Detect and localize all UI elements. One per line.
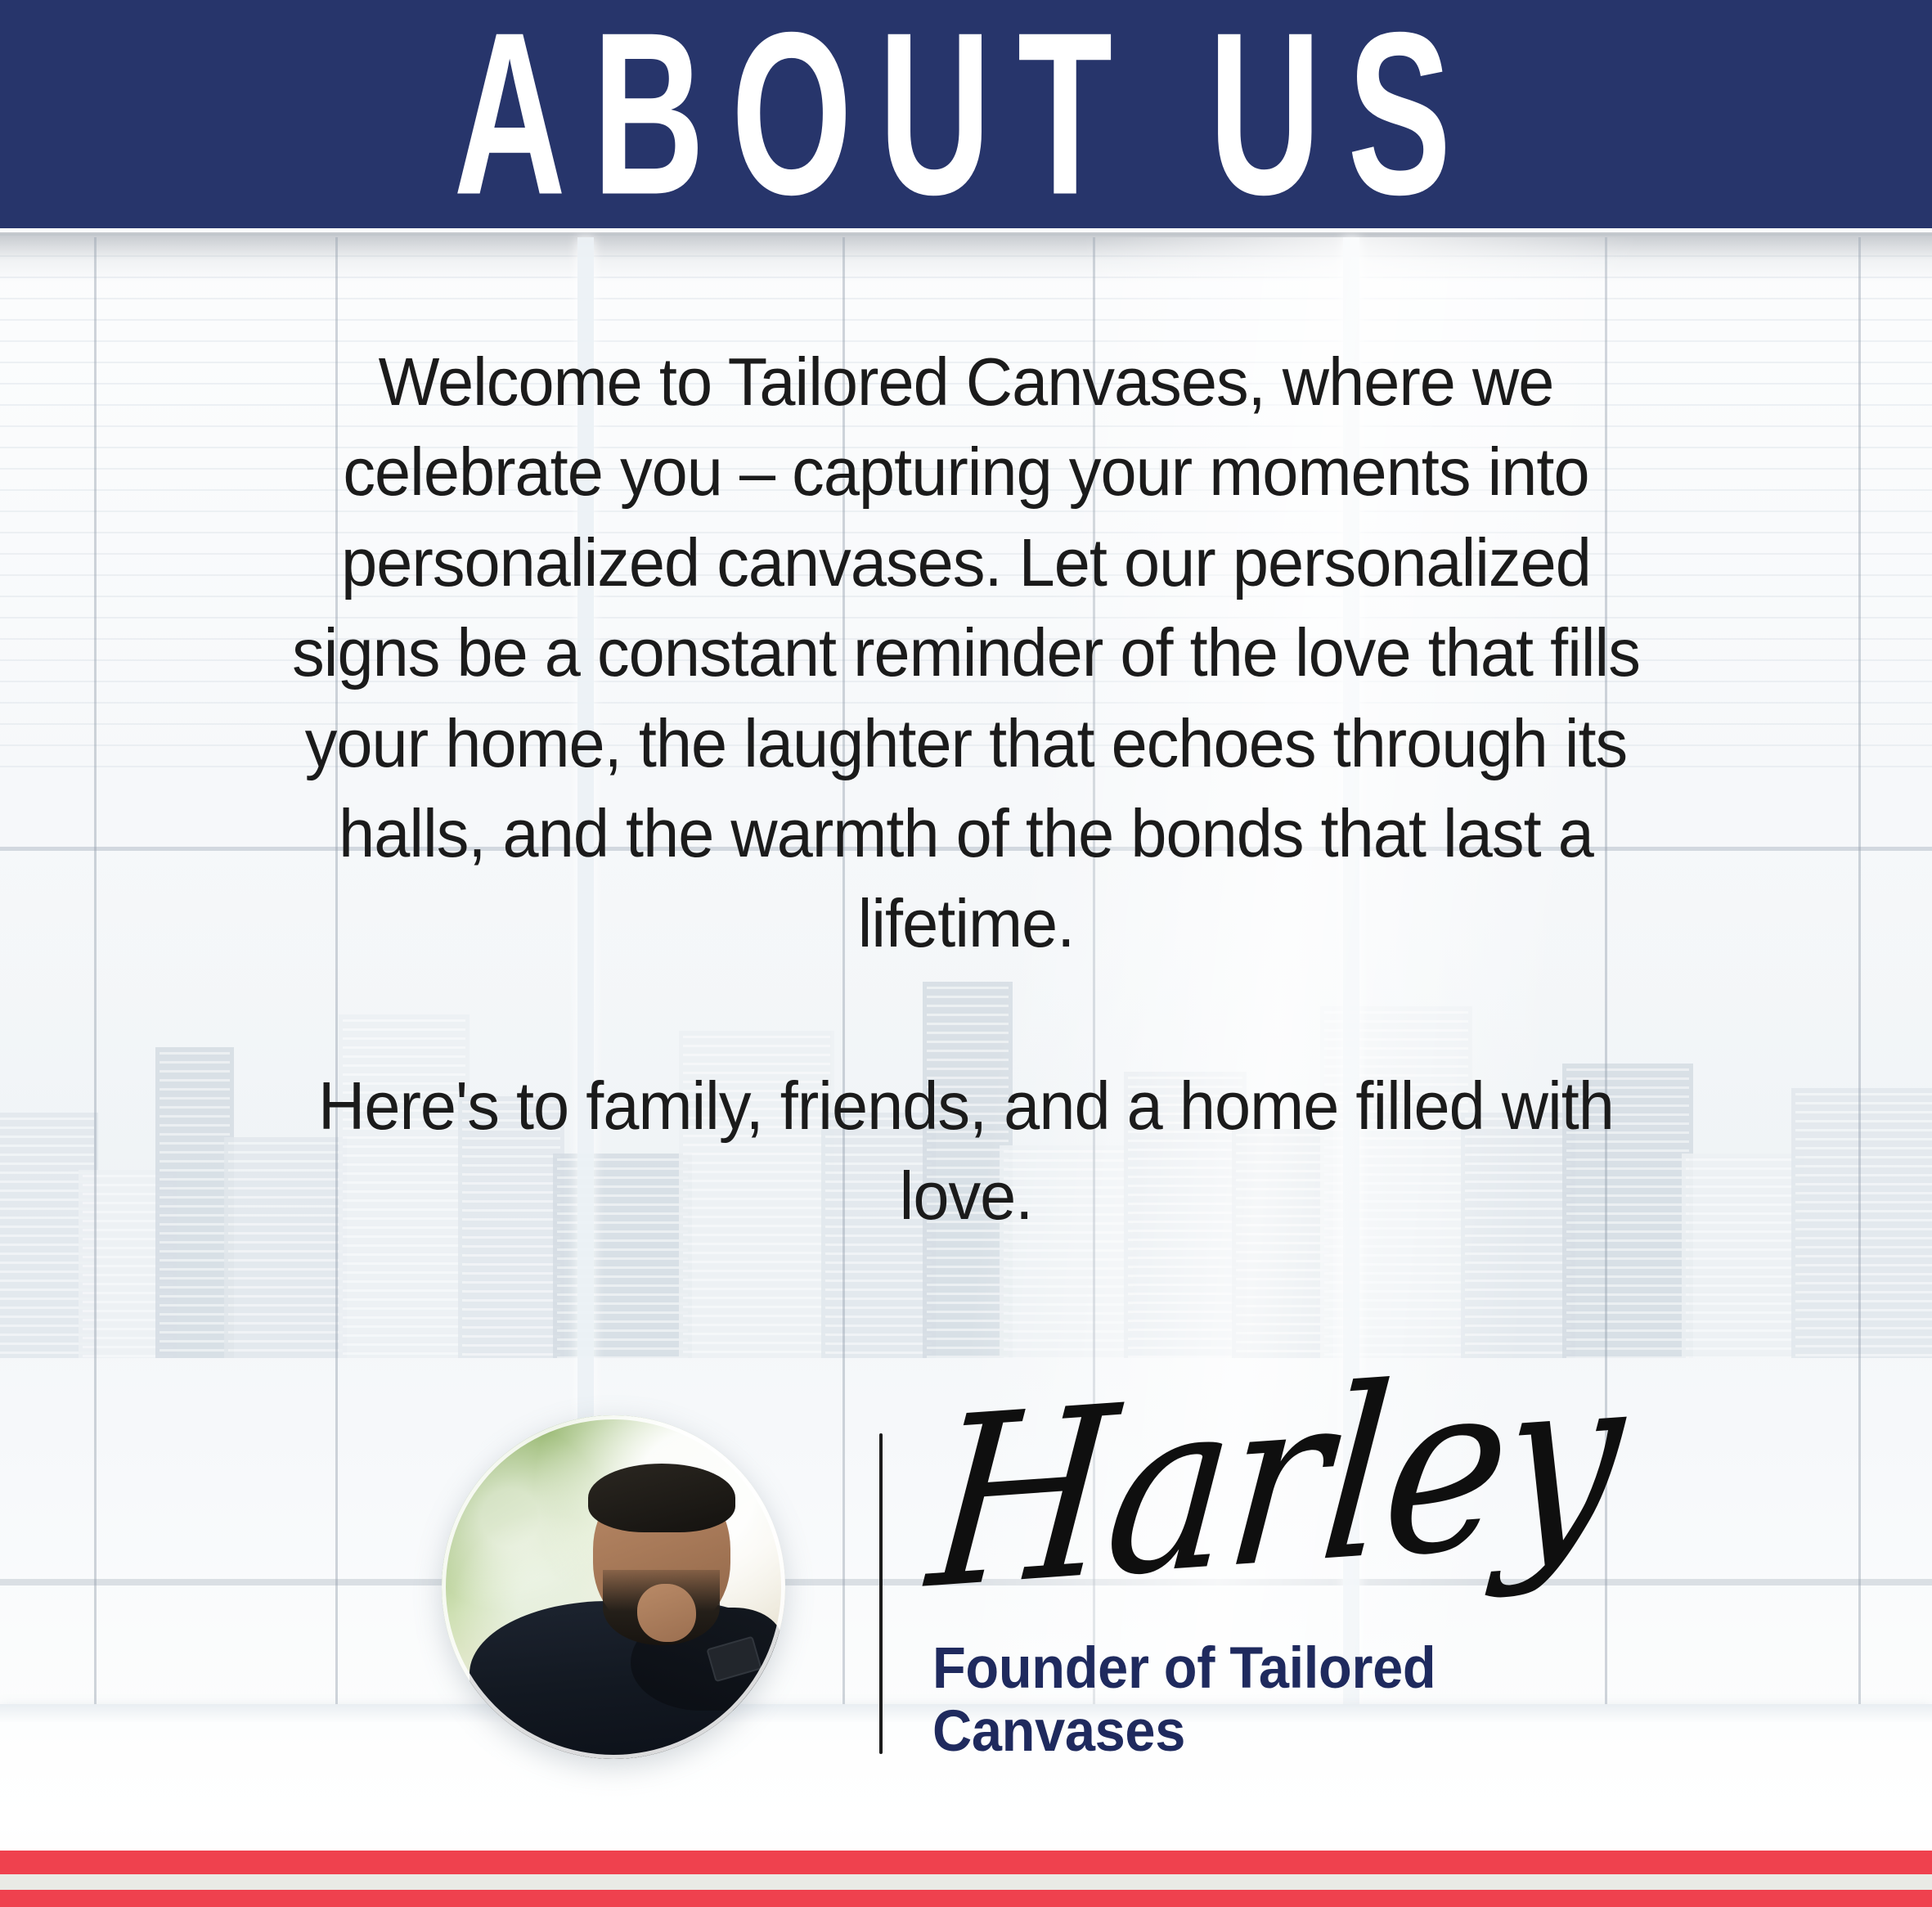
founder-signature: Harley: [922, 1339, 1627, 1621]
avatar-border: [442, 1415, 785, 1759]
skyline-building: [1791, 1088, 1932, 1358]
founder-role-line-1: Founder of Tailored: [932, 1638, 1516, 1701]
founder-role-line-2: Canvases: [932, 1701, 1516, 1764]
avatar: [442, 1415, 785, 1759]
window-mullion: [1858, 237, 1861, 1775]
header-banner: ABOUT US: [0, 0, 1932, 228]
about-paragraph-1: Welcome to Tailored Canvases, where we c…: [263, 337, 1669, 969]
window-mullion: [94, 237, 97, 1775]
footer-bar-bottom: [0, 1890, 1932, 1907]
signature-divider: [879, 1433, 883, 1754]
about-us-poster: ABOUT US Welcome to Tailored Canvases, w…: [0, 0, 1932, 1907]
footer-bar-gap: [0, 1874, 1932, 1890]
about-copy: Welcome to Tailored Canvases, where we c…: [230, 337, 1702, 1241]
page-title: ABOUT US: [454, 7, 1478, 220]
footer-bar-top: [0, 1851, 1932, 1874]
about-paragraph-2: Here's to family, friends, and a home fi…: [263, 1061, 1669, 1242]
founder-role: Founder of Tailored Canvases: [932, 1638, 1516, 1763]
skyline-building: [155, 1047, 234, 1358]
